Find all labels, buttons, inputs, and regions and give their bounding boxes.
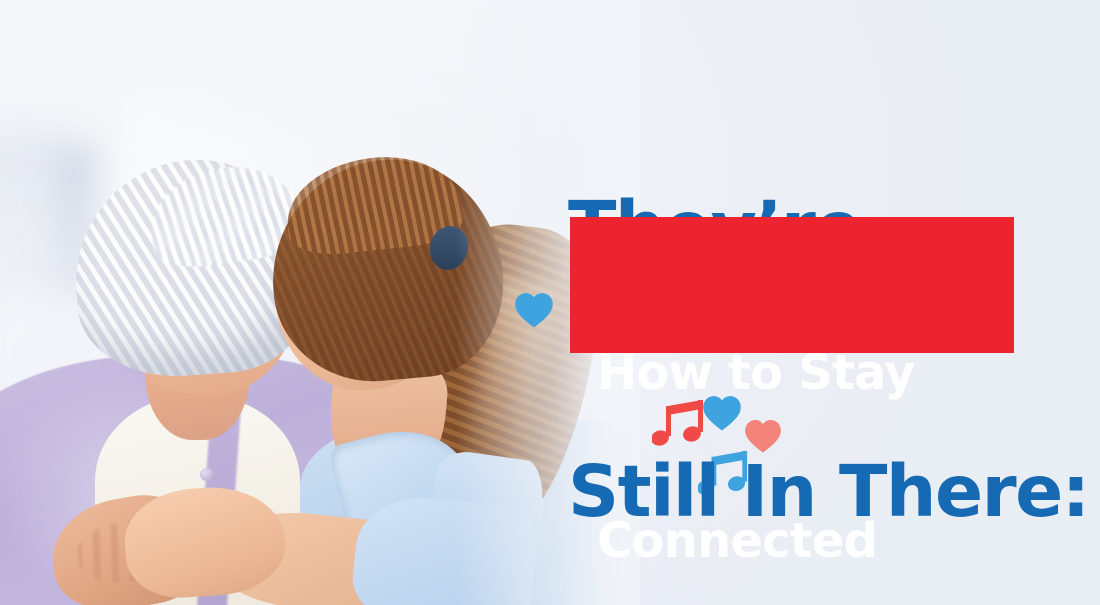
heart-blue-large-icon <box>514 290 554 330</box>
subtitle-banner: How to Stay Connected <box>570 217 1014 353</box>
subtitle-text: How to Stay Connected <box>597 233 1014 605</box>
subtitle-line-1: How to Stay <box>597 345 1014 401</box>
cardigan-button <box>200 468 213 481</box>
subtitle-line-2: Connected <box>597 513 1014 569</box>
poster-banner: They’re Still In There: How to Stay Conn… <box>0 0 1100 605</box>
